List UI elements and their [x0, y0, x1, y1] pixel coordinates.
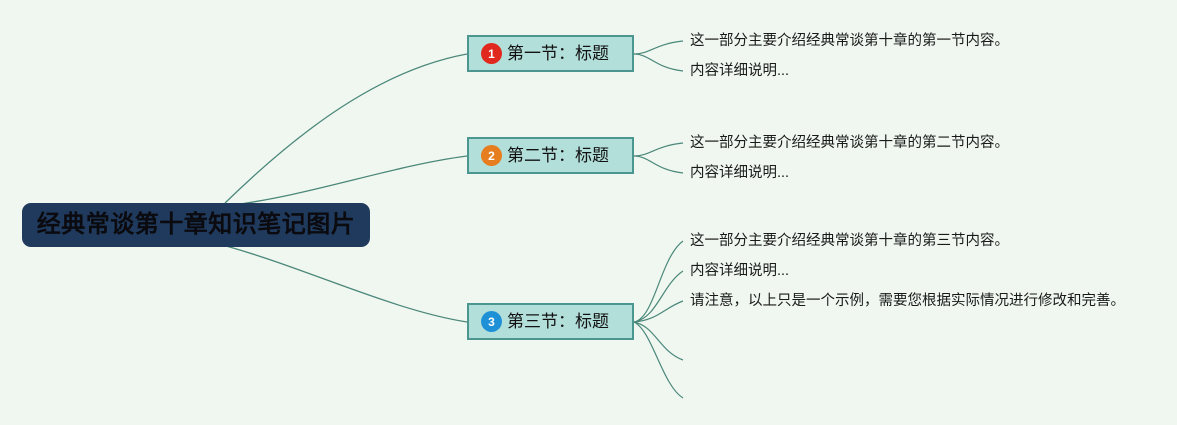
edge-root-to-branch-2 [225, 156, 467, 206]
branch-node-3[interactable]: 3 第三节：标题 [467, 303, 634, 340]
edge-root-to-branch-3 [215, 243, 467, 322]
branch-node-1[interactable]: 1 第一节：标题 [467, 35, 634, 72]
branch-3-leaf-3: 请注意，以上只是一个示例，需要您根据实际情况进行修改和完善。 [690, 294, 1125, 309]
edge-branch-3-leaf-5 [634, 322, 683, 398]
root-node-label: 经典常谈第十章知识笔记图片 [37, 213, 356, 237]
edge-branch-3-leaf-1 [634, 241, 683, 322]
edge-root-to-branch-1 [225, 54, 467, 203]
branch-2-label: 第二节：标题 [507, 147, 609, 164]
edge-branch-1-leaf-1 [634, 41, 683, 54]
mindmap-canvas: 经典常谈第十章知识笔记图片 1 第一节：标题 这一部分主要介绍经典常谈第十章的第… [0, 0, 1177, 425]
branch-3-leaf-1: 这一部分主要介绍经典常谈第十章的第三节内容。 [690, 234, 1009, 249]
root-node[interactable]: 经典常谈第十章知识笔记图片 [22, 203, 370, 247]
branch-2-leaf-2: 内容详细说明... [690, 166, 789, 181]
edge-branch-2-leaf-1 [634, 143, 683, 156]
branch-2-number-badge: 2 [481, 145, 502, 166]
branch-1-leaf-2: 内容详细说明... [690, 64, 789, 79]
edge-branch-3-leaf-3 [634, 301, 683, 322]
branch-1-number-badge: 1 [481, 43, 502, 64]
edge-branch-1-leaf-2 [634, 54, 683, 71]
branch-node-2[interactable]: 2 第二节：标题 [467, 137, 634, 174]
branch-3-number-badge: 3 [481, 311, 502, 332]
branch-1-label: 第一节：标题 [507, 45, 609, 62]
edge-branch-3-leaf-4 [634, 322, 683, 360]
branch-2-leaf-1: 这一部分主要介绍经典常谈第十章的第二节内容。 [690, 136, 1009, 151]
branch-1-leaf-1: 这一部分主要介绍经典常谈第十章的第一节内容。 [690, 34, 1009, 49]
branch-3-leaf-2: 内容详细说明... [690, 264, 789, 279]
branch-3-label: 第三节：标题 [507, 313, 609, 330]
edge-branch-3-leaf-2 [634, 271, 683, 322]
edge-branch-2-leaf-2 [634, 156, 683, 173]
